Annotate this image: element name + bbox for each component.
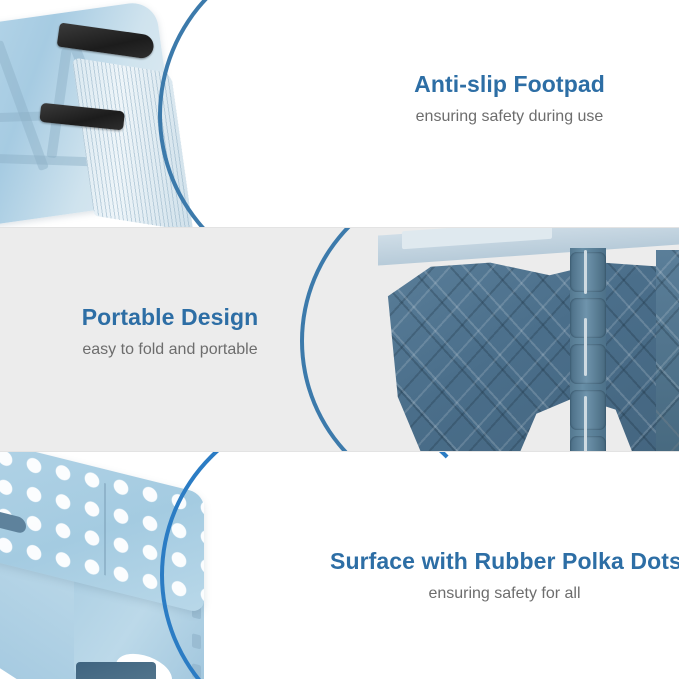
feature-subline: ensuring safety during use	[340, 107, 679, 127]
product-feature-infographic: Anti-slip Footpad ensuring safety during…	[0, 0, 679, 679]
hinge-pin-1	[584, 250, 587, 294]
feature-headline: Surface with Rubber Polka Dots	[330, 547, 679, 576]
stool-leg-frame	[378, 250, 679, 452]
stool-underside-illustration	[378, 228, 679, 452]
hinge-pin-3	[584, 396, 587, 452]
feature-subline: ensuring safety for all	[330, 584, 679, 604]
stool-inner-frame	[76, 662, 156, 679]
stool-right-leg	[656, 250, 679, 452]
feature-headline: Portable Design	[0, 303, 340, 332]
feature-headline: Anti-slip Footpad	[340, 70, 679, 99]
product-photo-underside	[340, 228, 679, 452]
stool-top-surface-illustration	[0, 464, 254, 679]
product-photo-footpad	[0, 0, 340, 228]
feature-subline: easy to fold and portable	[0, 340, 340, 360]
hinge-pin-2	[584, 318, 587, 376]
product-photo-polka-dot-surface	[0, 452, 340, 679]
diamond-lattice-texture-right	[656, 250, 679, 452]
feature-panel-polka-dots: Surface with Rubber Polka Dots ensuring …	[0, 452, 679, 679]
fold-seam-line	[104, 483, 106, 575]
feature-panel-portable-design: Portable Design easy to fold and portabl…	[0, 228, 679, 452]
feature-text-anti-slip-footpad: Anti-slip Footpad ensuring safety during…	[340, 70, 679, 127]
diamond-lattice-texture	[378, 250, 679, 452]
folding-hinge	[570, 248, 606, 452]
feature-panel-anti-slip-footpad: Anti-slip Footpad ensuring safety during…	[0, 0, 679, 228]
folded-stool-corner-illustration	[0, 0, 233, 228]
feature-text-polka-dots: Surface with Rubber Polka Dots ensuring …	[330, 547, 679, 604]
feature-text-portable-design: Portable Design easy to fold and portabl…	[0, 303, 340, 360]
